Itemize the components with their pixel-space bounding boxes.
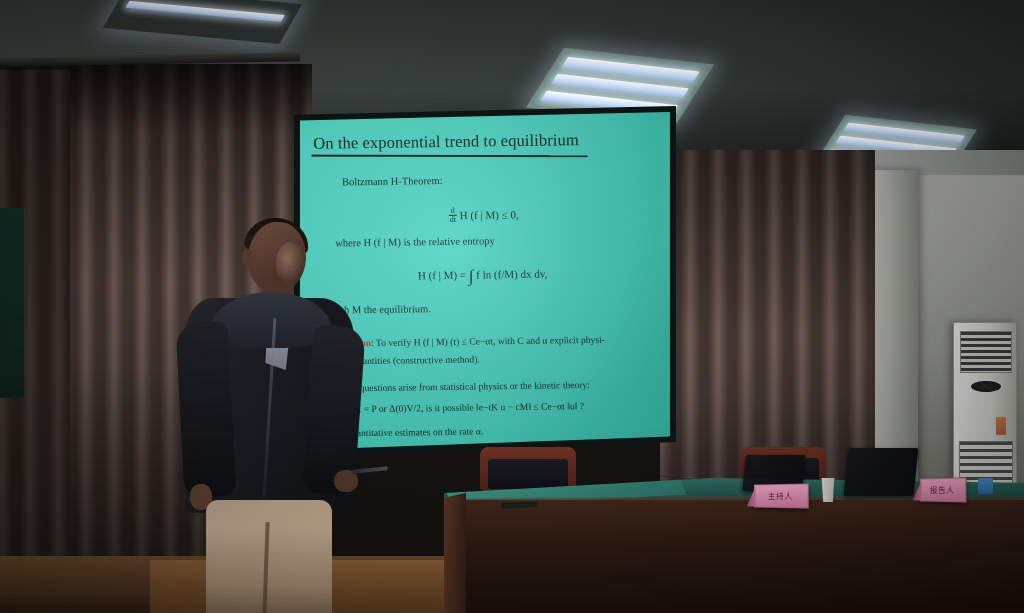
slide-equation-1: d dt H (f | M) ≤ 0, [449, 207, 519, 226]
laptop [846, 448, 916, 496]
slide-line-question-1: Question: To verify H (f | M) (t) ≤ Ce−α… [334, 335, 605, 350]
presenter-trousers [206, 500, 332, 613]
presenter-face-highlight [276, 242, 304, 284]
desk-side-panel [444, 493, 466, 613]
presenter [172, 222, 372, 613]
desk-front-panel [444, 500, 1024, 613]
equation-1-body: H (f | M) ≤ 0, [460, 209, 519, 222]
presenter-left-arm [175, 321, 236, 498]
namecard-speaker: 报告人 [920, 477, 967, 502]
screen-cable [659, 449, 712, 481]
ac-side-sticker [996, 417, 1006, 435]
presenter-ear [242, 249, 253, 266]
lecture-hall-photo: On the exponential trend to equilibrium … [0, 0, 1024, 613]
green-chalkboard [0, 208, 26, 398]
chair-cushion [488, 459, 569, 489]
namecard-speaker-text: 报告人 [930, 484, 955, 495]
equation-2-right: f ln (f/M) dx dv, [476, 269, 547, 282]
slide-line-boltzmann: Boltzmann H-Theorem: [342, 176, 443, 188]
slide-title-underline [311, 155, 587, 157]
laptop-lid [843, 448, 918, 496]
question-line-1-text: : To verify H (f | M) (t) ≤ Ce−αt, with … [371, 335, 605, 349]
namecard-host-text: 主持人 [768, 490, 793, 501]
slide-title: On the exponential trend to equilibrium [313, 130, 603, 154]
slide-line-question-4: For K = P or Δ(0)V/2, is it possible ‖e−… [338, 401, 584, 415]
ac-brand-badge [971, 381, 1001, 392]
fraction-denominator: dt [449, 216, 457, 225]
slide-line-question-3: Such questions arise from statistical ph… [338, 380, 590, 395]
water-bottle [978, 478, 993, 494]
chair [480, 447, 576, 491]
integral-sign: ∫ [469, 267, 474, 286]
slide-equation-2: H (f | M) = ∫ f ln (f/M) dx dv, [418, 269, 548, 283]
namecard-host: 主持人 [754, 483, 809, 508]
laser-pointer [352, 466, 388, 474]
ac-top-vent [960, 331, 1012, 373]
fraction-d-dt: d dt [449, 207, 458, 225]
equation-2-left: H (f | M) = [418, 270, 466, 283]
